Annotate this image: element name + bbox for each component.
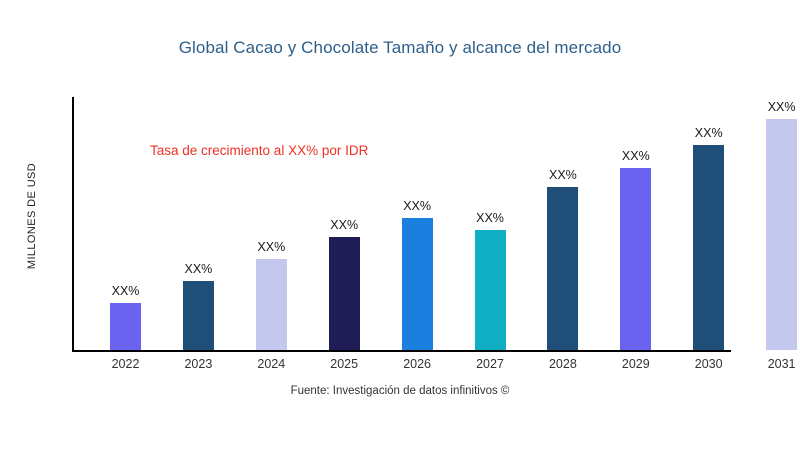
bar-value-label: XX% [257,240,285,254]
growth-rate-annotation: Tasa de crecimiento al XX% por IDR [150,143,368,158]
bar-group: XX% [402,218,433,350]
bar[interactable] [110,303,141,350]
x-tick-2026: 2026 [387,357,447,371]
chart-container: Global Cacao y Chocolate Tamaño y alcanc… [0,0,800,450]
y-axis-label: MILLONES DE USD [26,116,38,316]
bar[interactable] [329,237,360,350]
chart-title: Global Cacao y Chocolate Tamaño y alcanc… [0,38,800,58]
bar-group: XX% [329,237,360,350]
bar[interactable] [183,281,214,350]
bar[interactable] [256,259,287,350]
x-tick-2023: 2023 [168,357,228,371]
x-tick-2030: 2030 [679,357,739,371]
bar[interactable] [693,145,724,350]
bar[interactable] [402,218,433,350]
x-axis-line [72,350,731,352]
x-tick-2022: 2022 [96,357,156,371]
y-axis-line [72,97,74,351]
bar[interactable] [766,119,797,350]
bar-value-label: XX% [330,218,358,232]
bar-value-label: XX% [549,168,577,182]
bar-value-label: XX% [768,100,796,114]
bar[interactable] [475,230,506,350]
bar[interactable] [547,187,578,350]
bar-value-label: XX% [403,199,431,213]
x-tick-2025: 2025 [314,357,374,371]
bar-group: XX% [110,303,141,350]
x-tick-2029: 2029 [606,357,666,371]
bar-group: XX% [256,259,287,350]
x-tick-2027: 2027 [460,357,520,371]
x-tick-2024: 2024 [241,357,301,371]
x-tick-2028: 2028 [533,357,593,371]
bar-group: XX% [766,119,797,350]
x-tick-2031: 2031 [752,357,800,371]
bar-group: XX% [475,230,506,350]
bar-group: XX% [183,281,214,350]
bar[interactable] [620,168,651,350]
bar-group: XX% [547,187,578,350]
bar-value-label: XX% [184,262,212,276]
bar-value-label: XX% [695,126,723,140]
source-note: Fuente: Investigación de datos infinitiv… [0,385,800,397]
bar-value-label: XX% [622,149,650,163]
bar-value-label: XX% [476,211,504,225]
bar-group: XX% [693,145,724,350]
bar-value-label: XX% [112,284,140,298]
bar-group: XX% [620,168,651,350]
